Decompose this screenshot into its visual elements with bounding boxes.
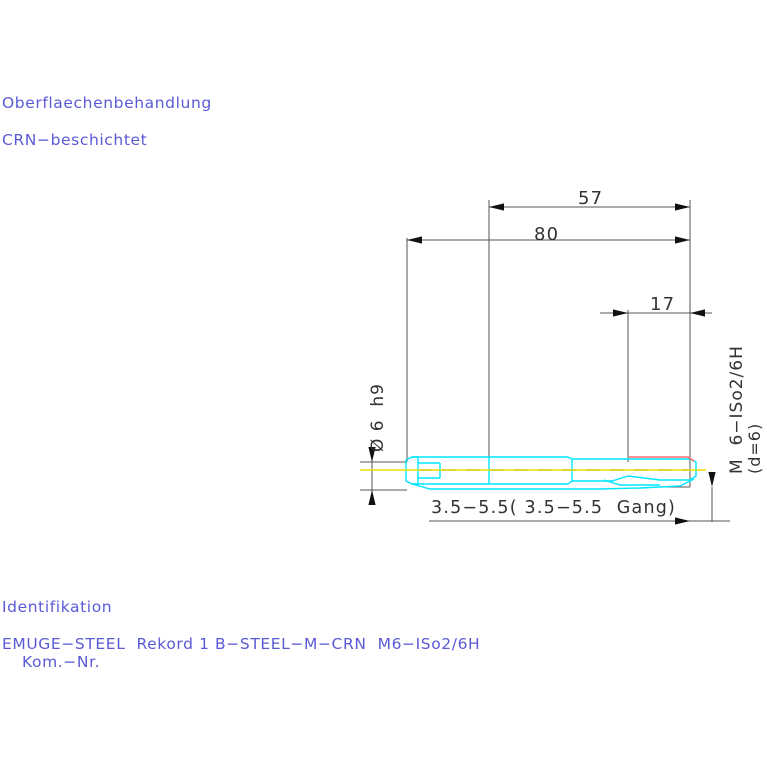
- dimension-label-80: 80: [534, 224, 559, 245]
- tool-drawing: [360, 457, 706, 489]
- surface-treatment-value: CRN−beschichtet: [2, 131, 147, 149]
- arrowhead-17-right: [690, 309, 705, 316]
- arrowhead-80-left: [407, 236, 422, 243]
- arrowhead-57-right: [675, 203, 690, 210]
- arrowhead-17-left: [613, 309, 628, 316]
- arrowhead-57-left: [489, 203, 504, 210]
- thread-bottom-line: [628, 476, 690, 480]
- identification-order-number-label: Kom.−Nr.: [22, 653, 100, 671]
- identification-heading: Identifikation: [2, 598, 112, 616]
- arrowhead-chamfer-note: [675, 517, 690, 524]
- dimension-label-17: 17: [650, 294, 675, 315]
- neck-bottom-line: [572, 476, 628, 481]
- tool-outline: [406, 457, 696, 489]
- arrowhead-diameter-bottom: [368, 490, 375, 505]
- dimension-arrowheads: [368, 203, 715, 524]
- identification-product-line: EMUGE−STEEL Rekord 1 B−STEEL−M−CRN M6−IS…: [2, 635, 480, 653]
- arrowhead-80-right: [675, 236, 690, 243]
- dimension-label-57: 57: [578, 188, 603, 209]
- dimension-label-shank-diameter: Ø 6 h9: [368, 383, 388, 452]
- surface-treatment-heading: Oberflaechenbehandlung: [2, 94, 212, 112]
- arrowhead-thread-spec: [708, 472, 715, 487]
- dimension-label-chamfer-note: 3.5−5.5( 3.5−5.5 Gang): [431, 498, 676, 518]
- thread-specification-label: M 6−ISo2/6H: [727, 345, 747, 474]
- thread-nominal-diameter-label: (d=6): [745, 423, 764, 474]
- dimension-lines: [360, 200, 730, 522]
